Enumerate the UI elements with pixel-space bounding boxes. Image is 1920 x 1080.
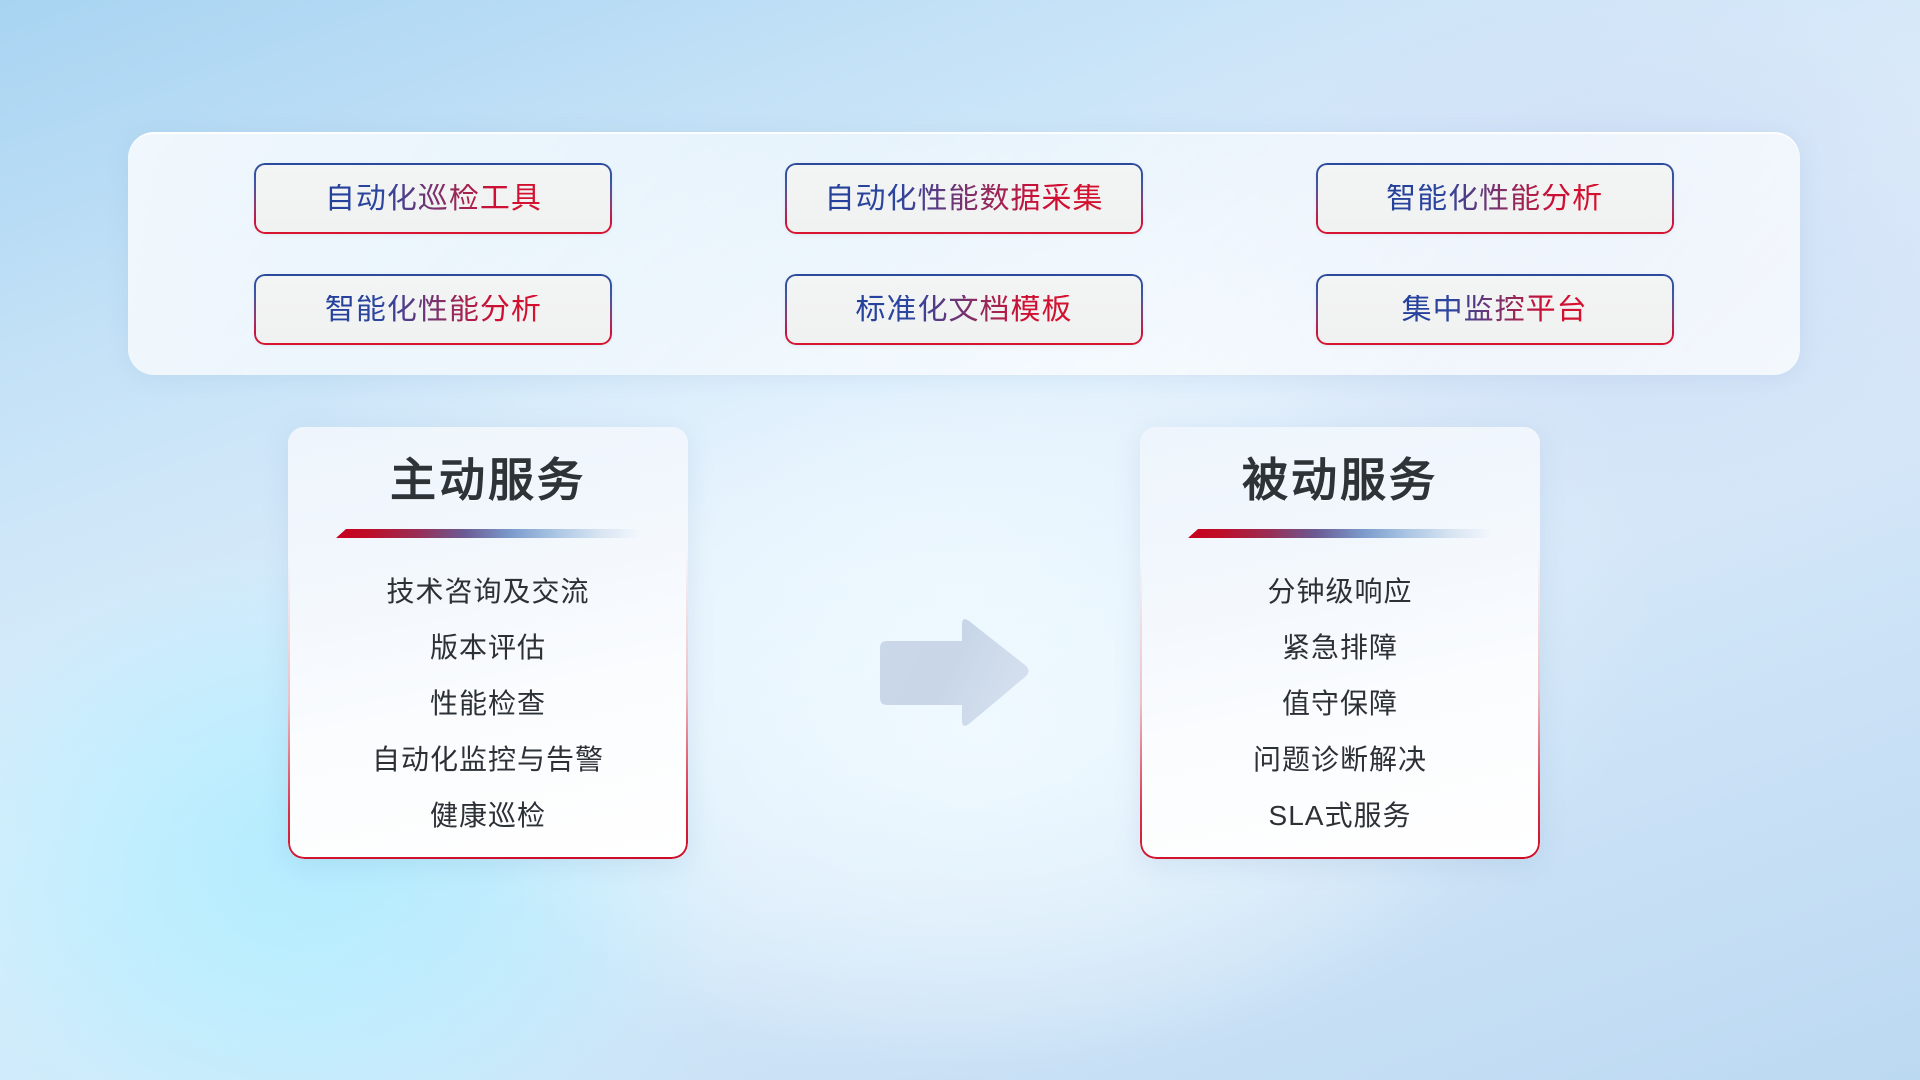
capability-panel: 自动化巡检工具 自动化性能数据采集 智能化性能分析 智能化性能分析 标准化文档模… (128, 132, 1800, 375)
list-item: SLA式服务 (1140, 788, 1540, 844)
capability-chip-label: 集中监控平台 (1402, 295, 1588, 325)
title-accent-rule (1188, 529, 1492, 538)
list-item: 紧急排障 (1140, 620, 1540, 676)
capability-chip[interactable]: 自动化巡检工具 (254, 163, 612, 234)
list-item: 健康巡检 (288, 788, 688, 844)
list-item: 版本评估 (288, 620, 688, 676)
capability-chip[interactable]: 标准化文档模板 (785, 274, 1143, 345)
capability-chip[interactable]: 智能化性能分析 (254, 274, 612, 345)
list-item: 分钟级响应 (1140, 564, 1540, 620)
capability-chip-label: 标准化文档模板 (855, 295, 1072, 325)
capability-grid: 自动化巡检工具 自动化性能数据采集 智能化性能分析 智能化性能分析 标准化文档模… (128, 133, 1800, 375)
capability-chip-label: 智能化性能分析 (1386, 184, 1603, 214)
diagram-canvas: 自动化巡检工具 自动化性能数据采集 智能化性能分析 智能化性能分析 标准化文档模… (0, 0, 1920, 1080)
capability-chip[interactable]: 智能化性能分析 (1316, 163, 1674, 234)
list-item: 问题诊断解决 (1140, 732, 1540, 788)
service-card-proactive: 主动服务 技术咨询及交流 版本评估 性能检查 自动化监控与告警 健康巡检 (288, 427, 688, 859)
capability-chip-label: 智能化性能分析 (325, 295, 542, 325)
capability-chip[interactable]: 集中监控平台 (1316, 274, 1674, 345)
capability-chip-label: 自动化性能数据采集 (824, 184, 1103, 214)
service-card-reactive: 被动服务 分钟级响应 紧急排障 值守保障 问题诊断解决 SLA式服务 (1140, 427, 1540, 859)
service-card-title: 被动服务 (1140, 457, 1540, 503)
arrow-right-icon (872, 614, 1032, 732)
list-item: 性能检查 (288, 676, 688, 732)
list-item: 技术咨询及交流 (288, 564, 688, 620)
capability-chip-label: 自动化巡检工具 (325, 184, 542, 214)
list-item: 自动化监控与告警 (288, 732, 688, 788)
service-card-title: 主动服务 (288, 457, 688, 503)
service-item-list: 分钟级响应 紧急排障 值守保障 问题诊断解决 SLA式服务 (1140, 564, 1540, 844)
title-accent-rule (336, 529, 640, 538)
list-item: 值守保障 (1140, 676, 1540, 732)
capability-chip[interactable]: 自动化性能数据采集 (785, 163, 1143, 234)
service-item-list: 技术咨询及交流 版本评估 性能检查 自动化监控与告警 健康巡检 (288, 564, 688, 844)
